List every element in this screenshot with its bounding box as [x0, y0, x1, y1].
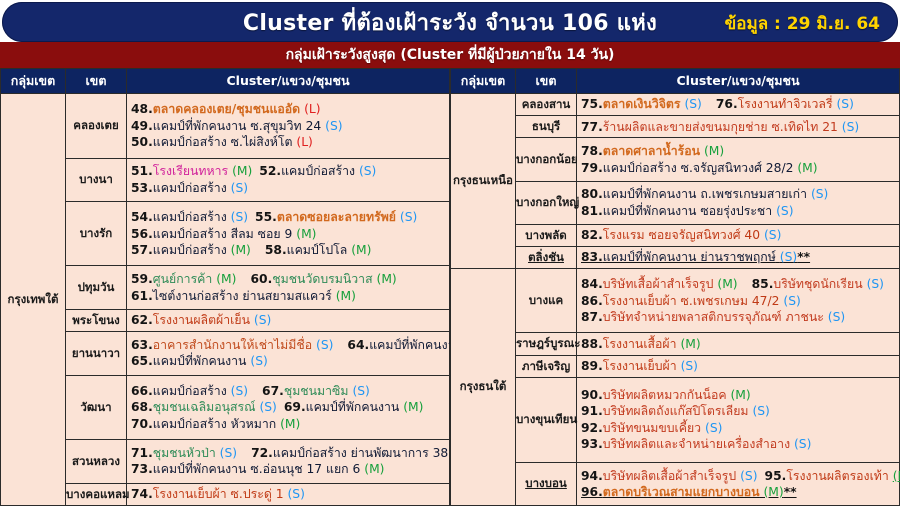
cluster-name: โรงงานเย็บผ้า ซ.ประดู่ 1 [153, 487, 284, 501]
cluster-name: แคมป์ก่อสร้าง ย่านพัฒนาการ 38 [273, 446, 448, 460]
district-cell: บางกอกน้อย [516, 138, 577, 181]
cluster-cell: 78.ตลาดศาลาน้ำร้อน (M)79.แคมป์ก่อสร้าง ซ… [577, 138, 900, 181]
cluster-number: 50. [131, 135, 153, 149]
cluster-number: 55. [255, 210, 277, 224]
cluster-name: ตลาดคลองเตย/ชุมชนแออัด [153, 102, 300, 116]
cluster-line-list: 83.แคมป์ที่พักคนงาน ย่านราชพฤกษ์ (S)** [577, 247, 899, 268]
size-tag: (S) [250, 354, 267, 368]
cluster-name: แคมป์ก่อสร้าง หัวหมาก [153, 417, 276, 431]
cluster-entry: 72.แคมป์ก่อสร้าง ย่านพัฒนาการ 38 (M) [251, 446, 472, 460]
cluster-entry: 82.โรงแรม ซอยจรัญสนิทวงศ์ 40 (S) [581, 228, 781, 242]
cluster-cell: 88.โรงงานเสื้อผ้า (M) [577, 333, 900, 355]
cluster-number: 62. [131, 313, 153, 327]
cluster-entry: 57.แคมป์ก่อสร้าง (M) [131, 243, 251, 257]
district-cell: ยานนาวา [66, 332, 127, 375]
district-label: ยานนาวา [72, 346, 120, 360]
district-label: ราษฎร์บูรณะ [516, 336, 580, 350]
cluster-name: แคมป์ก่อสร้าง [281, 164, 355, 178]
cluster-name: แคมป์ที่พักคนงาน ถ.เพชรเกษมสายเก่า [603, 187, 807, 201]
size-tag: (S) [684, 97, 701, 111]
cluster-name: โรงเรียนทหาร [153, 164, 228, 178]
cluster-name: โรงงานเย็บผ้า ซ.เพชรเกษม 47/2 [603, 294, 780, 308]
cluster-entry: 91.บริษัทผลิตถังแก๊สปิโตรเลียม (S) [581, 404, 770, 418]
size-tag: (S) [325, 119, 342, 133]
cluster-cell: 75.ตลาดเงินวิจิตร (S)76.โรงงานทำจิวเวลรี… [577, 94, 900, 116]
cluster-name: แคมป์ที่พักคนงาน ซ.อ่อนนุช 17 แยก 6 [153, 462, 361, 476]
cluster-name: ร้านผลิตและขายส่งขนมกุยช่าย ซ.เทิดไท 21 [603, 120, 838, 134]
cluster-line: 83.แคมป์ที่พักคนงาน ย่านราชพฤกษ์ (S)** [577, 249, 899, 265]
table-row: ตลิ่งชัน83.แคมป์ที่พักคนงาน ย่านราชพฤกษ์… [451, 246, 900, 268]
cluster-entry: 81.แคมป์ที่พักคนงาน ซอยรุ่งประชา (S) [581, 204, 794, 218]
table-header-row: กลุ่มเขต เขต Cluster/แขวง/ชุมชน [1, 69, 450, 94]
cluster-number: 69. [284, 400, 306, 414]
cluster-entry: 83.แคมป์ที่พักคนงาน ย่านราชพฤกษ์ (S)** [581, 250, 810, 264]
cluster-line-list: 82.โรงแรม ซอยจรัญสนิทวงศ์ 40 (S) [577, 225, 899, 246]
cluster-line: 65.แคมป์ที่พักคนงาน (S) [127, 353, 449, 369]
cluster-name: บริษัทผลิตถังแก๊สปิโตรเลียม [603, 404, 749, 418]
cluster-cell: 74.โรงงานเย็บผ้า ซ.ประดู่ 1 (S) [127, 483, 450, 505]
cluster-entry: 63.อาคารสำนักงานให้เช่าไม่มีชื่อ (S) [131, 338, 333, 352]
header-district: เขต [66, 69, 127, 94]
table-header-row: กลุ่มเขต เขต Cluster/แขวง/ชุมชน [451, 69, 900, 94]
asterisk-marker: ** [797, 250, 810, 264]
cluster-entry: 61.ไซต์งานก่อสร้าง ย่านสยามสแควร์ (M) [131, 289, 356, 303]
cluster-name: แคมป์ก่อสร้าง [153, 210, 227, 224]
cluster-line-list: 74.โรงงานเย็บผ้า ซ.ประดู่ 1 (S) [127, 484, 449, 505]
cluster-name: ศูนย์การค้า [153, 272, 213, 286]
cluster-number: 83. [581, 250, 603, 264]
cluster-name: แคมป์ก่อสร้าง ซ.จรัญสนิทวงศ์ 28/2 [603, 161, 794, 175]
district-label: บางคอแหลม [66, 487, 130, 501]
cluster-number: 59. [131, 272, 153, 286]
cluster-entry: 71.ชุมชนหัวป่า (S) [131, 446, 237, 460]
cluster-cell: 90.บริษัทผลิตหมวกกันน็อค (M)91.บริษัทผลิ… [577, 377, 900, 462]
cluster-line-list: 75.ตลาดเงินวิจิตร (S)76.โรงงานทำจิวเวลรี… [577, 94, 899, 115]
cluster-number: 92. [581, 421, 603, 435]
cluster-entry: 58.แคมป์โปโล (M) [265, 243, 372, 257]
cluster-cell: 54.แคมป์ก่อสร้าง (S)55.ตลาดซอยละลายทรัพย… [127, 201, 450, 266]
cluster-line: 51.โรงเรียนทหาร (M)52.แคมป์ก่อสร้าง (S) [127, 163, 449, 179]
table-row: บางรัก54.แคมป์ก่อสร้าง (S)55.ตลาดซอยละลา… [1, 201, 450, 266]
cluster-line: 74.โรงงานเย็บผ้า ซ.ประดู่ 1 (S) [127, 486, 449, 502]
cluster-name: แคมป์โปโล [287, 243, 348, 257]
cluster-line: 96.ตลาดบริเวณสามแยกบางบอน (M)** [577, 484, 899, 500]
cluster-entry: 86.โรงงานเย็บผ้า ซ.เพชรเกษม 47/2 (S) [581, 294, 801, 308]
size-tag: (S) [828, 310, 845, 324]
cluster-name: โรงงานเสื้อผ้า [603, 337, 677, 351]
group-cell-กรุงธนใต้: กรุงธนใต้ [451, 269, 516, 506]
cluster-line-list: 54.แคมป์ก่อสร้าง (S)55.ตลาดซอยละลายทรัพย… [127, 202, 449, 266]
right-table-body: กรุงธนเหนือคลองสาน75.ตลาดเงินวิจิตร (S)7… [451, 94, 900, 506]
cluster-name: โรงงานผลิตผ้าเย็น [153, 313, 250, 327]
cluster-name: ชุมชนหัวป่า [153, 446, 216, 460]
cluster-number: 72. [251, 446, 273, 460]
size-tag: (M) [280, 417, 300, 431]
cluster-name: แคมป์ที่พักคนงาน ซ.สุขุมวิท 24 [153, 119, 321, 133]
cluster-line: 70.แคมป์ก่อสร้าง หัวหมาก (M) [127, 416, 449, 432]
cluster-number: 60. [250, 272, 272, 286]
cluster-entry: 85.บริษัทชุดนักเรียน (S) [752, 277, 884, 291]
district-label: คลองเตย [73, 118, 118, 132]
cluster-number: 96. [581, 485, 603, 499]
cluster-entry: 80.แคมป์ที่พักคนงาน ถ.เพชรเกษมสายเก่า (S… [581, 187, 828, 201]
cluster-number: 79. [581, 161, 603, 175]
size-tag: (S) [259, 400, 276, 414]
cluster-entry: 78.ตลาดศาลาน้ำร้อน (M) [581, 144, 724, 158]
cluster-number: 84. [581, 277, 603, 291]
district-cell: ปทุมวัน [66, 266, 127, 309]
right-table-wrapper: กลุ่มเขต เขต Cluster/แขวง/ชุมชน กรุงธนเห… [450, 68, 900, 506]
table-row: บางนา51.โรงเรียนทหาร (M)52.แคมป์ก่อสร้าง… [1, 158, 450, 201]
district-label: บางกอกน้อย [516, 152, 578, 166]
cluster-cell: 63.อาคารสำนักงานให้เช่าไม่มีชื่อ (S)64.แ… [127, 332, 450, 375]
table-row: กรุงเทพใต้คลองเตย48.ตลาดคลองเตย/ชุมชนแออ… [1, 94, 450, 159]
cluster-line: 61.ไซต์งานก่อสร้าง ย่านสยามสแควร์ (M) [127, 288, 449, 304]
size-tag: (S) [740, 469, 757, 483]
cluster-cell: 62.โรงงานผลิตผ้าเย็น (S) [127, 309, 450, 331]
size-tag: (L) [296, 135, 312, 149]
cluster-entry: 88.โรงงานเสื้อผ้า (M) [581, 337, 701, 351]
cluster-entry: 67.ชุมชนมาซิม (S) [262, 384, 370, 398]
cluster-name: แคมป์ที่พักคนงาน [153, 354, 247, 368]
cluster-name: ตลาดซอยละลายทรัพย์ [277, 210, 396, 224]
cluster-number: 73. [131, 462, 153, 476]
cluster-name: บริษัทขนมขบเคี้ยว [603, 421, 701, 435]
cluster-name: แคมป์ที่พักคนงาน ซอยรุ่งประชา [603, 204, 772, 218]
cluster-name: แคมป์ที่พักคนงาน [369, 338, 463, 352]
table-row: บางพลัด82.โรงแรม ซอยจรัญสนิทวงศ์ 40 (S) [451, 224, 900, 246]
cluster-entry: 70.แคมป์ก่อสร้าง หัวหมาก (M) [131, 417, 300, 431]
cluster-line: 92.บริษัทขนมขบเคี้ยว (S) [577, 420, 899, 436]
cluster-entry: 68.ชุมชนเฉลิมอนุสรณ์ (S) [131, 400, 277, 414]
cluster-line: 79.แคมป์ก่อสร้าง ซ.จรัญสนิทวงศ์ 28/2 (M) [577, 160, 899, 176]
size-tag: (M) [731, 388, 751, 402]
cluster-number: 85. [752, 277, 774, 291]
size-tag: (M) [763, 485, 783, 499]
cluster-line-list: 89.โรงงานเย็บผ้า (S) [577, 356, 899, 377]
cluster-entry: 49.แคมป์ที่พักคนงาน ซ.สุขุมวิท 24 (S) [131, 119, 343, 133]
cluster-line: 53.แคมป์ก่อสร้าง (S) [127, 180, 449, 196]
cluster-number: 94. [581, 469, 603, 483]
cluster-entry: 89.โรงงานเย็บผ้า (S) [581, 359, 698, 373]
cluster-name: ตลาดศาลาน้ำร้อน [603, 144, 700, 158]
cluster-name: แคมป์ก่อสร้าง [153, 181, 227, 195]
cluster-name: ชุมชนเฉลิมอนุสรณ์ [153, 400, 256, 414]
cluster-line-list: 90.บริษัทผลิตหมวกกันน็อค (M)91.บริษัทผลิ… [577, 378, 899, 462]
size-tag: (S) [231, 181, 248, 195]
size-tag: (S) [867, 277, 884, 291]
cluster-line-list: 84.บริษัทเสื้อผ้าสำเร็จรูป (M)85.บริษัทช… [577, 269, 899, 332]
header-cluster: Cluster/แขวง/ชุมชน [127, 69, 450, 94]
cluster-number: 80. [581, 187, 603, 201]
group-cell-bangkok-tai: กรุงเทพใต้ [1, 94, 66, 506]
cluster-number: 87. [581, 310, 603, 324]
tables-container: กลุ่มเขต เขต Cluster/แขวง/ชุมชน กรุงเทพใ… [0, 68, 900, 506]
group-cell-กรุงธนเหนือ: กรุงธนเหนือ [451, 94, 516, 269]
cluster-number: 70. [131, 417, 153, 431]
header-cluster: Cluster/แขวง/ชุมชน [577, 69, 900, 94]
size-tag: (S) [400, 210, 417, 224]
cluster-line: 59.ศูนย์การค้า (M)60.ชุมชนวัดบรมนิวาส (M… [127, 271, 449, 287]
cluster-cell: 80.แคมป์ที่พักคนงาน ถ.เพชรเกษมสายเก่า (S… [577, 181, 900, 224]
cluster-entry: 62.โรงงานผลิตผ้าเย็น (S) [131, 313, 271, 327]
cluster-line-list: 59.ศูนย์การค้า (M)60.ชุมชนวัดบรมนิวาส (M… [127, 266, 449, 308]
cluster-line: 87.บริษัทจำหน่ายพลาสติกบรรจุภัณฑ์ ภาชนะ … [577, 309, 899, 325]
cluster-name: บริษัทจำหน่ายพลาสติกบรรจุภัณฑ์ ภาชนะ [603, 310, 824, 324]
size-tag: (M) [351, 243, 371, 257]
cluster-name: แคมป์ก่อสร้าง ซ.ไผ่สิงห์โต [153, 135, 293, 149]
cluster-number: 93. [581, 437, 603, 451]
cluster-name: โรงงานเย็บผ้า [603, 359, 677, 373]
district-cell: บางนา [66, 158, 127, 201]
cluster-line: 88.โรงงานเสื้อผ้า (M) [577, 336, 899, 352]
cluster-line: 71.ชุมชนหัวป่า (S)72.แคมป์ก่อสร้าง ย่านพ… [127, 445, 449, 461]
size-tag: (S) [752, 404, 769, 418]
cluster-entry: 48.ตลาดคลองเตย/ชุมชนแออัด (L) [131, 102, 321, 116]
cluster-entry: 95.โรงงานผลิตรองเท้า (M) [765, 469, 900, 483]
cluster-entry: 73.แคมป์ที่พักคนงาน ซ.อ่อนนุช 17 แยก 6 (… [131, 462, 384, 476]
cluster-number: 71. [131, 446, 153, 460]
cluster-number: 64. [347, 338, 369, 352]
size-tag: (M) [680, 337, 700, 351]
size-tag: (S) [780, 250, 797, 264]
district-label: บางกอกใหญ่ [516, 195, 579, 209]
table-row: ภาษีเจริญ89.โรงงานเย็บผ้า (S) [451, 355, 900, 377]
cluster-name: โรงงานทำจิวเวลรี่ [738, 97, 833, 111]
size-tag: (S) [220, 446, 237, 460]
cluster-name: ตลาดบริเวณสามแยกบางบอน [603, 485, 760, 499]
size-tag: (S) [352, 384, 369, 398]
cluster-number: 58. [265, 243, 287, 257]
cluster-entry: 94.บริษัทผลิตเสื้อผ้าสำเร็จรูป (S) [581, 469, 758, 483]
cluster-name: ชุมชนมาซิม [284, 384, 349, 398]
cluster-entry: 92.บริษัทขนมขบเคี้ยว (S) [581, 421, 722, 435]
cluster-name: อาคารสำนักงานให้เช่าไม่มีชื่อ [153, 338, 312, 352]
district-cell: บางขุนเทียน [516, 377, 577, 462]
cluster-name: บริษัทผลิตหมวกกันน็อค [603, 388, 727, 402]
cluster-number: 54. [131, 210, 153, 224]
header-banner: Cluster ที่ต้องเฝ้าระวัง จำนวน 106 แห่ง … [2, 2, 898, 42]
right-cluster-table: กลุ่มเขต เขต Cluster/แขวง/ชุมชน กรุงธนเห… [450, 68, 900, 506]
left-table-body: กรุงเทพใต้คลองเตย48.ตลาดคลองเตย/ชุมชนแออ… [1, 94, 450, 506]
cluster-line: 75.ตลาดเงินวิจิตร (S)76.โรงงานทำจิวเวลรี… [577, 96, 899, 112]
cluster-line: 80.แคมป์ที่พักคนงาน ถ.เพชรเกษมสายเก่า (S… [577, 186, 899, 202]
district-cell: บางคอแหลม [66, 483, 127, 505]
cluster-cell: 51.โรงเรียนทหาร (M)52.แคมป์ก่อสร้าง (S)5… [127, 158, 450, 201]
size-tag: (M) [377, 272, 397, 286]
header-group: กลุ่มเขต [451, 69, 516, 94]
cluster-number: 57. [131, 243, 153, 257]
size-tag: (S) [681, 359, 698, 373]
cluster-line: 82.โรงแรม ซอยจรัญสนิทวงศ์ 40 (S) [577, 227, 899, 243]
cluster-number: 88. [581, 337, 603, 351]
cluster-entry: 52.แคมป์ก่อสร้าง (S) [259, 164, 376, 178]
cluster-number: 77. [581, 120, 603, 134]
district-label: พระโขนง [72, 313, 119, 327]
cluster-number: 53. [131, 181, 153, 195]
asterisk-marker: ** [784, 485, 797, 499]
cluster-line-list: 71.ชุมชนหัวป่า (S)72.แคมป์ก่อสร้าง ย่านพ… [127, 440, 449, 482]
district-label: ภาษีเจริญ [522, 359, 570, 373]
cluster-number: 48. [131, 102, 153, 116]
district-cell: สวนหลวง [66, 440, 127, 483]
table-row: กรุงธนใต้บางแค84.บริษัทเสื้อผ้าสำเร็จรูป… [451, 269, 900, 333]
cluster-number: 74. [131, 487, 153, 501]
district-cell: บางกอกใหญ่ [516, 181, 577, 224]
size-tag: (M) [797, 161, 817, 175]
cluster-name: โรงแรม ซอยจรัญสนิทวงศ์ 40 [603, 228, 760, 242]
cluster-number: 52. [259, 164, 281, 178]
cluster-name: แคมป์ก่อสร้าง สีลม ซอย 9 [153, 227, 293, 241]
cluster-line: 62.โรงงานผลิตผ้าเย็น (S) [127, 312, 449, 328]
cluster-name: ไซต์งานก่อสร้าง ย่านสยามสแควร์ [153, 289, 332, 303]
cluster-name: บริษัทชุดนักเรียน [773, 277, 862, 291]
district-cell: พระโขนง [66, 309, 127, 331]
subtitle-bar: กลุ่มเฝ้าระวังสูงสุด (Cluster ที่มีผู้ป่… [0, 42, 900, 68]
district-label: ธนบุรี [532, 119, 560, 133]
district-label: คลองสาน [522, 97, 571, 111]
cluster-number: 67. [262, 384, 284, 398]
size-tag: (L) [304, 102, 320, 116]
cluster-line: 57.แคมป์ก่อสร้าง (M)58.แคมป์โปโล (M) [127, 242, 449, 258]
size-tag: (S) [794, 437, 811, 451]
cluster-cell: 48.ตลาดคลองเตย/ชุมชนแออัด (L)49.แคมป์ที่… [127, 94, 450, 159]
cluster-cell: 71.ชุมชนหัวป่า (S)72.แคมป์ก่อสร้าง ย่านพ… [127, 440, 450, 483]
cluster-line: 84.บริษัทเสื้อผ้าสำเร็จรูป (M)85.บริษัทช… [577, 276, 899, 292]
cluster-entry: 77.ร้านผลิตและขายส่งขนมกุยช่าย ซ.เทิดไท … [581, 120, 859, 134]
cluster-number: 68. [131, 400, 153, 414]
table-row: กรุงธนเหนือคลองสาน75.ตลาดเงินวิจิตร (S)7… [451, 94, 900, 116]
cluster-number: 56. [131, 227, 153, 241]
district-label: ปทุมวัน [78, 280, 115, 294]
cluster-number: 63. [131, 338, 153, 352]
district-cell: คลองเตย [66, 94, 127, 159]
cluster-line: 68.ชุมชนเฉลิมอนุสรณ์ (S)69.แคมป์ที่พักคน… [127, 399, 449, 415]
district-cell: บางบอน [516, 462, 577, 505]
cluster-line: 48.ตลาดคลองเตย/ชุมชนแออัด (L) [127, 101, 449, 117]
size-tag: (S) [254, 313, 271, 327]
cluster-number: 90. [581, 388, 603, 402]
cluster-name: บริษัทเสื้อผ้าสำเร็จรูป [603, 277, 714, 291]
district-label: บางบอน [525, 476, 566, 490]
size-tag: (M) [231, 243, 251, 257]
cluster-entry: 65.แคมป์ที่พักคนงาน (S) [131, 354, 268, 368]
size-tag: (S) [705, 421, 722, 435]
cluster-line-list: 77.ร้านผลิตและขายส่งขนมกุยช่าย ซ.เทิดไท … [577, 116, 899, 137]
cluster-line-list: 62.โรงงานผลิตผ้าเย็น (S) [127, 310, 449, 331]
cluster-line-list: 66.แคมป์ก่อสร้าง (S)67.ชุมชนมาซิม (S)68.… [127, 376, 449, 440]
cluster-number: 89. [581, 359, 603, 373]
district-cell: ธนบุรี [516, 116, 577, 138]
cluster-entry: 55.ตลาดซอยละลายทรัพย์ (S) [255, 210, 417, 224]
table-row: บางกอกน้อย78.ตลาดศาลาน้ำร้อน (M)79.แคมป์… [451, 138, 900, 181]
cluster-line-list: 63.อาคารสำนักงานให้เช่าไม่มีชื่อ (S)64.แ… [127, 332, 449, 374]
cluster-line: 90.บริษัทผลิตหมวกกันน็อค (M) [577, 387, 899, 403]
cluster-entry: 93.บริษัทผลิตและจำหน่ายเครื่องสำอาง (S) [581, 437, 811, 451]
size-tag: (M) [717, 277, 737, 291]
cluster-entry: 51.โรงเรียนทหาร (M) [131, 164, 252, 178]
size-tag: (S) [231, 210, 248, 224]
cluster-line: 73.แคมป์ที่พักคนงาน ซ.อ่อนนุช 17 แยก 6 (… [127, 461, 449, 477]
size-tag: (M) [403, 400, 423, 414]
size-tag: (S) [287, 487, 304, 501]
cluster-line-list: 94.บริษัทผลิตเสื้อผ้าสำเร็จรูป (S)95.โรง… [577, 463, 899, 505]
cluster-line: 49.แคมป์ที่พักคนงาน ซ.สุขุมวิท 24 (S) [127, 118, 449, 134]
district-cell: บางพลัด [516, 224, 577, 246]
cluster-entry: 87.บริษัทจำหน่ายพลาสติกบรรจุภัณฑ์ ภาชนะ … [581, 310, 845, 324]
district-cell: ภาษีเจริญ [516, 355, 577, 377]
district-label: บางขุนเทียน [516, 412, 577, 426]
table-row: พระโขนง62.โรงงานผลิตผ้าเย็น (S) [1, 309, 450, 331]
size-tag: (S) [764, 228, 781, 242]
table-row: บางกอกใหญ่80.แคมป์ที่พักคนงาน ถ.เพชรเกษม… [451, 181, 900, 224]
cluster-entry: 79.แคมป์ก่อสร้าง ซ.จรัญสนิทวงศ์ 28/2 (M) [581, 161, 818, 175]
table-row: วัฒนา66.แคมป์ก่อสร้าง (S)67.ชุมชนมาซิม (… [1, 375, 450, 440]
cluster-name: ตลาดเงินวิจิตร [603, 97, 681, 111]
cluster-line: 78.ตลาดศาลาน้ำร้อน (M) [577, 143, 899, 159]
cluster-line: 54.แคมป์ก่อสร้าง (S)55.ตลาดซอยละลายทรัพย… [127, 209, 449, 225]
cluster-line-list: 78.ตลาดศาลาน้ำร้อน (M)79.แคมป์ก่อสร้าง ซ… [577, 138, 899, 180]
cluster-number: 65. [131, 354, 153, 368]
cluster-line: 66.แคมป์ก่อสร้าง (S)67.ชุมชนมาซิม (S) [127, 383, 449, 399]
cluster-cell: 66.แคมป์ก่อสร้าง (S)67.ชุมชนมาซิม (S)68.… [127, 375, 450, 440]
cluster-number: 49. [131, 119, 153, 133]
cluster-number: 51. [131, 164, 153, 178]
cluster-name: แคมป์ก่อสร้าง [153, 243, 227, 257]
table-row: ราษฎร์บูรณะ88.โรงงานเสื้อผ้า (M) [451, 333, 900, 355]
cluster-number: 91. [581, 404, 603, 418]
cluster-line: 50.แคมป์ก่อสร้าง ซ.ไผ่สิงห์โต (L) [127, 134, 449, 150]
cluster-number: 66. [131, 384, 153, 398]
size-tag: (M) [216, 272, 236, 286]
cluster-entry: 96.ตลาดบริเวณสามแยกบางบอน (M)** [581, 485, 797, 499]
size-tag: (S) [231, 384, 248, 398]
cluster-line-list: 51.โรงเรียนทหาร (M)52.แคมป์ก่อสร้าง (S)5… [127, 159, 449, 201]
size-tag: (M) [296, 227, 316, 241]
cluster-line: 56.แคมป์ก่อสร้าง สีลม ซอย 9 (M) [127, 226, 449, 242]
cluster-entry: 69.แคมป์ที่พักคนงาน (M) [284, 400, 424, 414]
size-tag: (S) [842, 120, 859, 134]
cluster-cell: 94.บริษัทผลิตเสื้อผ้าสำเร็จรูป (S)95.โรง… [577, 462, 900, 505]
cluster-line-list: 88.โรงงานเสื้อผ้า (M) [577, 333, 899, 354]
size-tag: (M) [232, 164, 252, 178]
cluster-entry: 54.แคมป์ก่อสร้าง (S) [131, 210, 248, 224]
district-label: บางรัก [80, 226, 113, 240]
cluster-number: 76. [716, 97, 738, 111]
left-cluster-table: กลุ่มเขต เขต Cluster/แขวง/ชุมชน กรุงเทพใ… [0, 68, 450, 506]
cluster-entry: 84.บริษัทเสื้อผ้าสำเร็จรูป (M) [581, 277, 738, 291]
cluster-cell: 59.ศูนย์การค้า (M)60.ชุมชนวัดบรมนิวาส (M… [127, 266, 450, 309]
cluster-line: 94.บริษัทผลิตเสื้อผ้าสำเร็จรูป (S)95.โรง… [577, 468, 899, 484]
header-group: กลุ่มเขต [1, 69, 66, 94]
district-label: วัฒนา [80, 400, 111, 414]
cluster-line: 77.ร้านผลิตและขายส่งขนมกุยช่าย ซ.เทิดไท … [577, 119, 899, 135]
cluster-entry: 75.ตลาดเงินวิจิตร (S) [581, 97, 702, 111]
cluster-line-list: 80.แคมป์ที่พักคนงาน ถ.เพชรเกษมสายเก่า (S… [577, 182, 899, 224]
cluster-cell: 82.โรงแรม ซอยจรัญสนิทวงศ์ 40 (S) [577, 224, 900, 246]
district-label: บางแค [529, 293, 563, 307]
cluster-line: 89.โรงงานเย็บผ้า (S) [577, 358, 899, 374]
district-label: บางนา [79, 172, 113, 186]
cluster-number: 86. [581, 294, 603, 308]
cluster-line: 63.อาคารสำนักงานให้เช่าไม่มีชื่อ (S)64.แ… [127, 337, 449, 353]
table-row: ยานนาวา63.อาคารสำนักงานให้เช่าไม่มีชื่อ … [1, 332, 450, 375]
cluster-name: บริษัทผลิตเสื้อผ้าสำเร็จรูป [603, 469, 736, 483]
district-cell: บางแค [516, 269, 577, 333]
cluster-line-list: 48.ตลาดคลองเตย/ชุมชนแออัด (L)49.แคมป์ที่… [127, 94, 449, 158]
cluster-line: 91.บริษัทผลิตถังแก๊สปิโตรเลียม (S) [577, 403, 899, 419]
cluster-number: 75. [581, 97, 603, 111]
